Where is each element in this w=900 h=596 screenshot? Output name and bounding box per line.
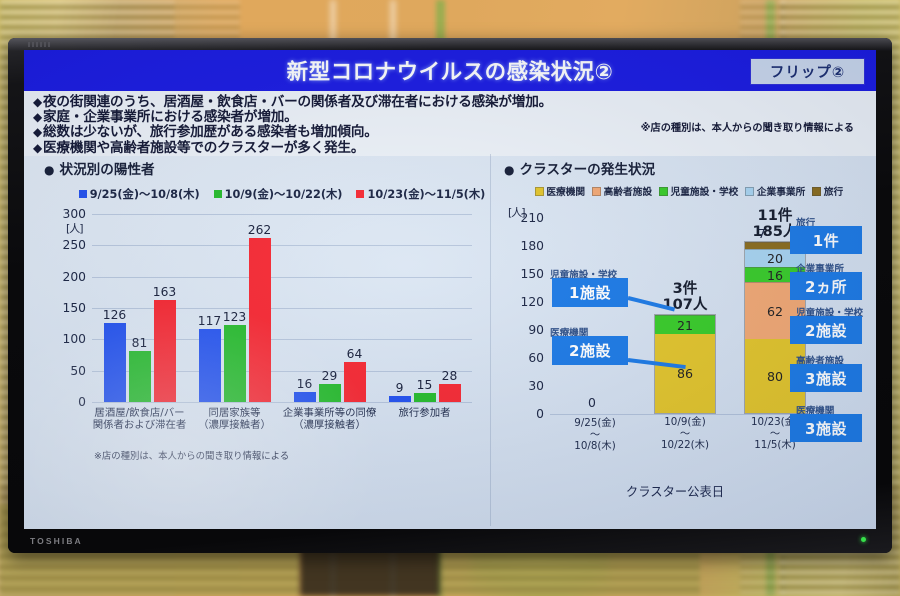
bar-value-label: 81 <box>132 336 148 350</box>
legend-swatch-icon <box>592 187 601 196</box>
legend-item: 高齢者施設 <box>592 184 652 198</box>
bar: 64 <box>344 362 366 402</box>
panel-divider <box>490 154 491 526</box>
legend-label: 企業事業所 <box>757 184 805 198</box>
bar-group: 117123262同居家族等（濃厚接触者） <box>187 214 282 402</box>
gridline <box>92 402 472 403</box>
x-axis-category: 同居家族等（濃厚接触者） <box>198 407 271 431</box>
right-panel-heading: クラスターの発生状況 <box>504 158 655 178</box>
callout-elderly: 3施設 <box>790 364 862 392</box>
y-axis-tick: 150 <box>63 301 86 315</box>
axis-baseline <box>550 414 800 415</box>
legend-swatch-icon <box>79 190 87 198</box>
bullet-note: ※店の種別は、本人からの聞き取り情報による <box>641 119 854 134</box>
stack-total-cases: 11件 <box>752 208 797 224</box>
left-chart-plot: 05010015020025030012681163居酒屋/飲食店/バー関係者お… <box>92 214 472 402</box>
right-x-axis-title: クラスター公表日 <box>550 482 800 500</box>
bar-value-label: 15 <box>417 378 433 392</box>
bar: 123 <box>224 325 246 402</box>
x-axis-tick: 10/8(木) <box>574 441 615 453</box>
y-axis-tick: 120 <box>521 295 544 309</box>
callout-school: 2施設 <box>790 316 862 344</box>
y-axis-tick: 300 <box>63 207 86 221</box>
x-axis-tick: 居酒屋/飲食店/バー <box>93 407 187 419</box>
bullet-item: 医療機関や高齢者施設等でのクラスターが多く発生。 <box>33 141 876 156</box>
bar: 9 <box>389 396 411 402</box>
y-axis-tick: 210 <box>521 211 544 225</box>
callout-travel: 1件 <box>790 226 862 254</box>
legend-label: 旅行 <box>824 184 843 198</box>
television: TOSHIBA 新型コロナウイルスの感染状況② フリップ② 夜の街関連のうち、居… <box>8 38 892 553</box>
legend-label: 9/25(金)～10/8(木) <box>90 186 200 202</box>
x-axis-category: 10/9(金)～10/22(木) <box>661 417 709 452</box>
y-axis-tick: 0 <box>536 407 544 421</box>
bar-value-label: 9 <box>396 381 404 395</box>
zero-value-label: 0 <box>588 395 596 410</box>
bar: 15 <box>414 393 436 402</box>
stack-total-cases: 3件 <box>662 281 707 297</box>
legend-swatch-icon <box>356 190 364 198</box>
bar-value-label: 163 <box>153 285 176 299</box>
y-axis-tick: 50 <box>70 364 86 378</box>
bar: 29 <box>319 384 341 402</box>
x-axis-tick: （濃厚接触者） <box>283 419 377 431</box>
bar: 16 <box>294 392 316 402</box>
left-chart-legend: 9/25(金)～10/8(木)10/9(金)～10/22(木)10/23(金)～… <box>82 186 482 202</box>
tv-screen: 新型コロナウイルスの感染状況② フリップ② 夜の街関連のうち、居酒屋・飲食店・バ… <box>24 50 876 529</box>
x-axis-category: 企業事業所等の同僚（濃厚接触者） <box>283 407 377 431</box>
legend-swatch-icon <box>535 187 544 196</box>
bar-group: 162964企業事業所等の同僚（濃厚接触者） <box>282 214 377 402</box>
right-chart-legend: 医療機関高齢者施設児童施設・学校企業事業所旅行 <box>502 184 876 198</box>
y-axis-tick: 60 <box>528 351 544 365</box>
bar-value-label: 126 <box>103 308 126 322</box>
y-axis-tick: 90 <box>528 323 544 337</box>
x-axis-tick: 10/9(金) <box>661 417 709 429</box>
left-chart-panel: 状況別の陽性者 9/25(金)～10/8(木)10/9(金)～10/22(木)1… <box>30 156 488 526</box>
y-axis-tick: 30 <box>528 379 544 393</box>
left-panel-heading: 状況別の陽性者 <box>44 158 155 178</box>
x-axis-tick: 関係者および滞在者 <box>93 419 187 431</box>
bar: 81 <box>129 351 151 402</box>
x-axis-category: 居酒屋/飲食店/バー関係者および滞在者 <box>93 407 187 431</box>
legend-item: 10/23(金)～11/5(木) <box>356 186 485 202</box>
presentation-slide: 新型コロナウイルスの感染状況② フリップ② 夜の街関連のうち、居酒屋・飲食店・バ… <box>24 50 876 529</box>
right-chart-plot: 03060901201501802109/25(金)～10/8(木)86213件… <box>550 218 800 414</box>
legend-item: 医療機関 <box>535 184 585 198</box>
flip-badge: フリップ② <box>750 58 865 85</box>
y-axis-tick: 100 <box>63 332 86 346</box>
stack-segment: 21 <box>655 315 715 334</box>
x-axis-category: 旅行参加者 <box>399 407 451 419</box>
bar-value-label: 123 <box>223 310 246 324</box>
x-axis-tick: 企業事業所等の同僚 <box>283 407 377 419</box>
legend-label: 高齢者施設 <box>604 184 652 198</box>
callout-school-left: 1施設 <box>552 278 628 307</box>
bar-value-label: 262 <box>248 223 271 237</box>
bar: 163 <box>154 300 176 402</box>
legend-label: 医療機関 <box>546 184 585 198</box>
callout-medical-left: 2施設 <box>552 336 628 365</box>
legend-item: 旅行 <box>812 184 843 198</box>
bar-value-label: 117 <box>198 314 221 328</box>
legend-swatch-icon <box>745 187 754 196</box>
toshiba-logo: TOSHIBA <box>30 536 83 546</box>
y-axis-tick: 150 <box>521 267 544 281</box>
bar: 28 <box>439 384 461 402</box>
bar-value-label: 29 <box>322 369 338 383</box>
slide-title-bar: 新型コロナウイルスの感染状況② フリップ② <box>24 50 876 91</box>
legend-swatch-icon <box>659 187 668 196</box>
bar-group: 91528旅行参加者 <box>377 214 472 402</box>
x-axis-tick: 旅行参加者 <box>399 407 451 419</box>
bar-value-label: 28 <box>442 369 458 383</box>
bezel-vent <box>28 42 50 47</box>
x-axis-tick: 9/25(金) <box>574 418 615 430</box>
bar: 262 <box>249 238 271 402</box>
power-led-icon <box>861 537 866 542</box>
legend-label: 10/9(金)～10/22(木) <box>225 186 343 202</box>
stack-segment-value-travel: 7 <box>758 227 766 241</box>
y-axis-tick: 0 <box>78 395 86 409</box>
bar: 117 <box>199 329 221 402</box>
bullet-item: 夜の街関連のうち、居酒屋・飲食店・バーの関係者及び滞在者における感染が増加。 <box>33 95 876 110</box>
legend-swatch-icon <box>812 187 821 196</box>
bar-value-label: 64 <box>347 347 363 361</box>
stack-total-people: 107人 <box>662 297 707 313</box>
y-axis-tick: 180 <box>521 239 544 253</box>
right-chart-panel: クラスターの発生状況 医療機関高齢者施設児童施設・学校企業事業所旅行 [人] 0… <box>494 156 876 526</box>
legend-item: 9/25(金)～10/8(木) <box>79 186 200 202</box>
left-chart-footnote: ※店の種別は、本人からの聞き取り情報による <box>94 448 289 462</box>
legend-swatch-icon <box>214 190 222 198</box>
bullet-list: 夜の街関連のうち、居酒屋・飲食店・バーの関係者及び滞在者における感染が増加。 家… <box>24 91 876 156</box>
left-y-axis-unit: [人] <box>66 220 83 236</box>
legend-item: 10/9(金)～10/22(木) <box>214 186 343 202</box>
callout-medical: 3施設 <box>790 414 862 442</box>
y-axis-tick: 250 <box>63 238 86 252</box>
legend-label: 10/23(金)～11/5(木) <box>367 186 485 202</box>
legend-item: 児童施設・学校 <box>659 184 738 198</box>
y-axis-tick: 200 <box>63 270 86 284</box>
legend-item: 企業事業所 <box>745 184 805 198</box>
legend-label: 児童施設・学校 <box>671 184 739 198</box>
bar-value-label: 16 <box>297 377 313 391</box>
bar-group: 12681163居酒屋/飲食店/バー関係者および滞在者 <box>92 214 187 402</box>
slide-title: 新型コロナウイルスの感染状況② <box>24 50 876 91</box>
x-axis-category: 9/25(金)～10/8(木) <box>574 418 615 453</box>
callout-company: 2ヵ所 <box>790 272 862 300</box>
x-axis-tick: 10/22(木) <box>661 440 709 452</box>
stack-segment: 86 <box>655 334 715 413</box>
x-axis-tick: 同居家族等 <box>198 407 271 419</box>
x-axis-tick: （濃厚接触者） <box>198 419 271 431</box>
bar: 126 <box>104 323 126 402</box>
